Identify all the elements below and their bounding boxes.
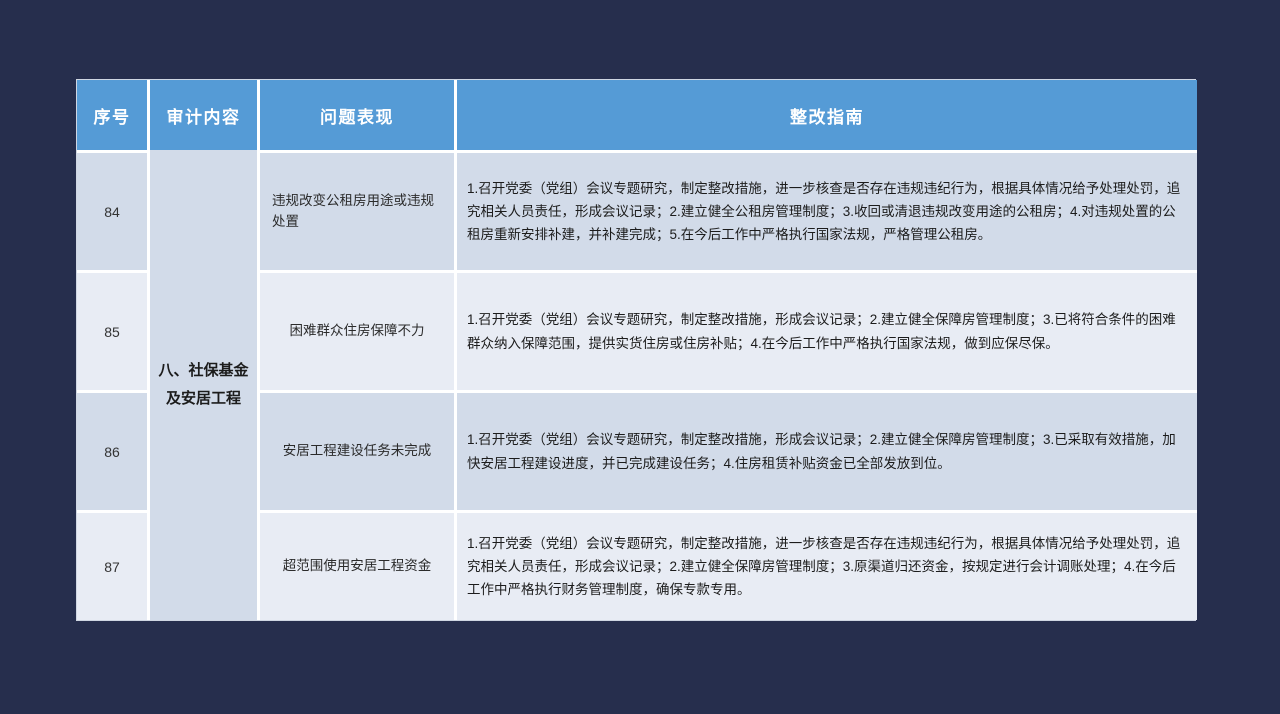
column-header-content: 审计内容 [150, 80, 260, 150]
cell-rectification-guide: 1.召开党委（党组）会议专题研究，制定整改措施，进一步核查是否存在违规违纪行为，… [457, 150, 1197, 270]
audit-rectification-table: 序号 审计内容 问题表现 整改指南 84 八、社保基金 及安居工程 违规改变公租… [77, 80, 1197, 620]
audit-content-line-1: 八、社保基金 [158, 362, 248, 379]
column-header-guide: 整改指南 [457, 80, 1197, 150]
table-body: 84 八、社保基金 及安居工程 违规改变公租房用途或违规处置 1.召开党委（党组… [77, 150, 1197, 620]
cell-rectification-guide: 1.召开党委（党组）会议专题研究，制定整改措施，形成会议记录；2.建立健全保障房… [457, 270, 1197, 390]
table-header-row: 序号 审计内容 问题表现 整改指南 [77, 80, 1197, 150]
audit-content-line-2: 及安居工程 [166, 390, 241, 407]
cell-serial-number: 87 [77, 510, 150, 620]
cell-serial-number: 84 [77, 150, 150, 270]
cell-serial-number: 86 [77, 390, 150, 510]
cell-rectification-guide: 1.召开党委（党组）会议专题研究，制定整改措施，进一步核查是否存在违规违纪行为，… [457, 510, 1197, 620]
table-row: 84 八、社保基金 及安居工程 违规改变公租房用途或违规处置 1.召开党委（党组… [77, 150, 1197, 270]
cell-problem: 困难群众住房保障不力 [260, 270, 457, 390]
table-header: 序号 审计内容 问题表现 整改指南 [77, 80, 1197, 150]
cell-problem: 超范围使用安居工程资金 [260, 510, 457, 620]
column-header-problem: 问题表现 [260, 80, 457, 150]
cell-problem: 安居工程建设任务未完成 [260, 390, 457, 510]
column-header-no: 序号 [77, 80, 150, 150]
cell-serial-number: 85 [77, 270, 150, 390]
cell-rectification-guide: 1.召开党委（党组）会议专题研究，制定整改措施，形成会议记录；2.建立健全保障房… [457, 390, 1197, 510]
slide-canvas: 序号 审计内容 问题表现 整改指南 84 八、社保基金 及安居工程 违规改变公租… [0, 0, 1280, 714]
cell-problem: 违规改变公租房用途或违规处置 [260, 150, 457, 270]
cell-audit-content-merged: 八、社保基金 及安居工程 [150, 150, 260, 620]
audit-rectification-table-container: 序号 审计内容 问题表现 整改指南 84 八、社保基金 及安居工程 违规改变公租… [76, 79, 1196, 621]
